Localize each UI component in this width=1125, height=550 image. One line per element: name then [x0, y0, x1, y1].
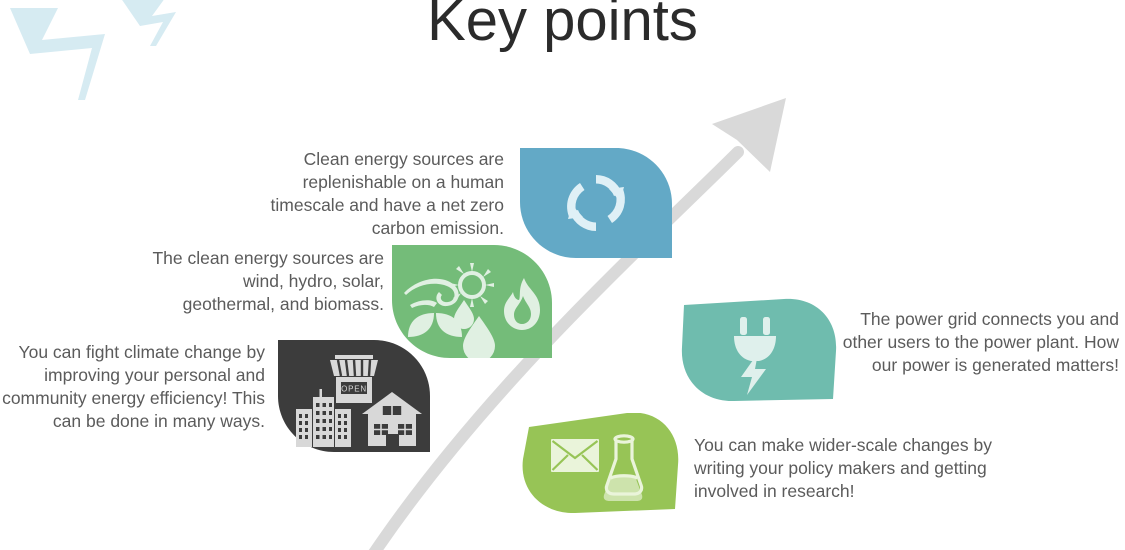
- callout-text-sources: The clean energy sources are wind, hydro…: [148, 247, 384, 316]
- leaf-shape-advocacy[interactable]: [515, 413, 680, 513]
- slide-canvas: Key points: [0, 0, 1125, 550]
- page-title: Key points: [0, 0, 1125, 55]
- shop-sign-label: OPEN: [341, 385, 367, 394]
- shop-icon: OPEN: [330, 355, 378, 403]
- callout-text-community: You can fight climate change by improvin…: [0, 341, 265, 433]
- envelope-icon: [551, 439, 599, 472]
- leaf-shape-community[interactable]: OPEN: [278, 340, 430, 452]
- callout-text-recycle: Clean energy sources are replenishable o…: [232, 148, 504, 240]
- leaf-shape-grid[interactable]: [678, 297, 838, 402]
- leaf-shape-recycle[interactable]: [520, 148, 672, 258]
- callout-text-grid: The power grid connects you and other us…: [842, 308, 1119, 377]
- flask-liquid: [604, 477, 643, 501]
- callout-text-advocacy: You can make wider-scale changes by writ…: [694, 434, 1010, 503]
